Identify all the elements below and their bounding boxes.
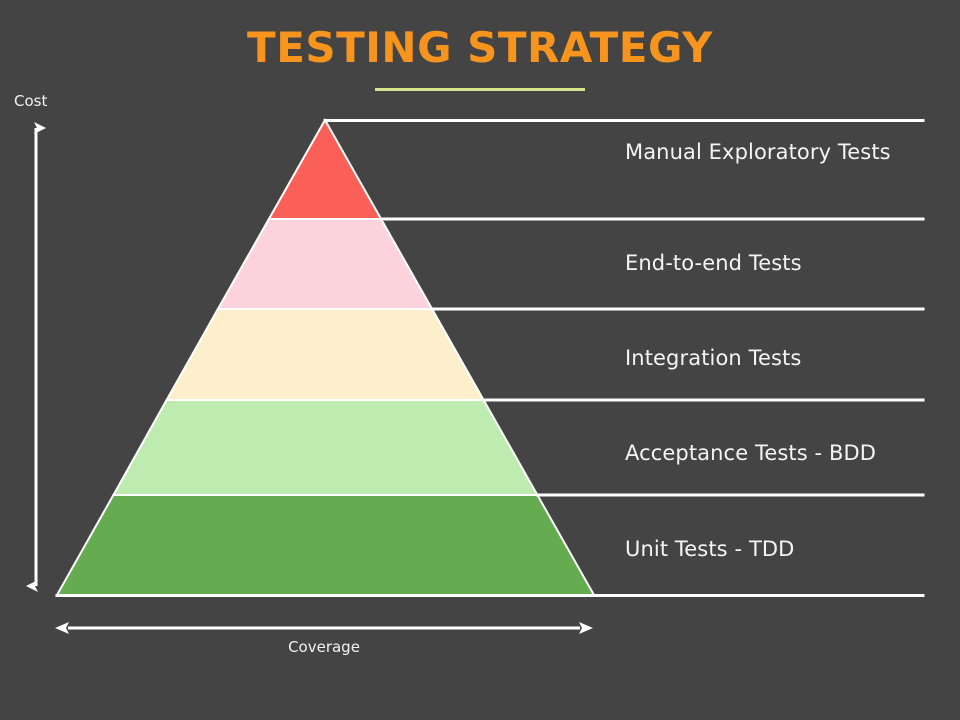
band-label-integration-tests: Integration Tests (625, 345, 925, 373)
pyramid-band-manual-exploratory-tests (269, 120, 381, 219)
diagram-canvas: TESTING STRATEGY (0, 0, 960, 720)
pyramid-band-integration-tests (167, 309, 484, 400)
band-label-manual-exploratory-tests: Manual Exploratory Tests (625, 139, 925, 167)
pyramid-band-end-to-end-tests (218, 219, 432, 309)
cost-axis-label: Cost (14, 92, 47, 110)
band-label-acceptance-tests-bdd: Acceptance Tests - BDD (625, 440, 945, 468)
band-label-end-to-end-tests: End-to-end Tests (625, 250, 925, 278)
pyramid-band-unit-tests-tdd (57, 495, 594, 595)
pyramid-band-acceptance-tests-bdd (113, 400, 537, 495)
coverage-axis-label: Coverage (58, 638, 590, 656)
pyramid-bands (57, 120, 594, 595)
band-label-unit-tests-tdd: Unit Tests - TDD (625, 536, 925, 564)
